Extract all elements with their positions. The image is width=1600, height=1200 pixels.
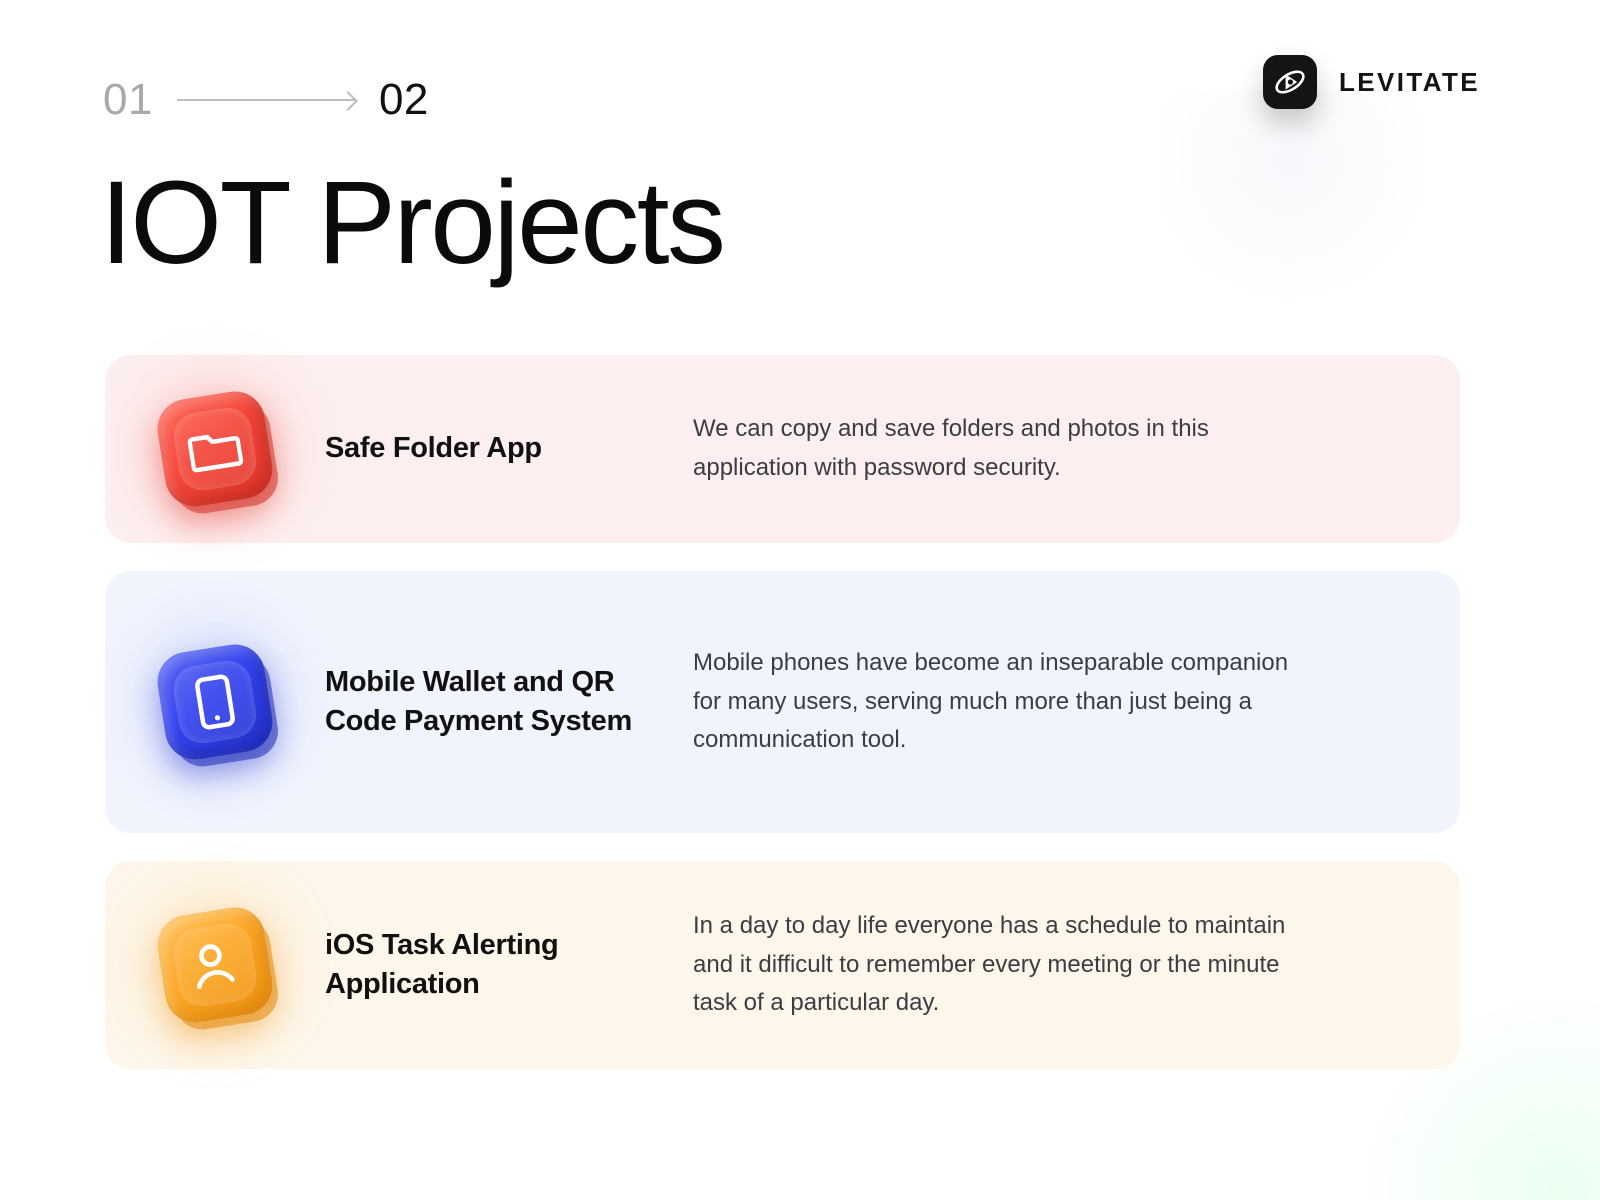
project-card-list: Safe Folder App We can copy and save fol… <box>105 355 1460 1097</box>
card-icon-container <box>105 395 325 503</box>
pagination-current-number[interactable]: 02 <box>379 78 429 122</box>
pagination-previous-number[interactable]: 01 <box>103 78 153 122</box>
brand-logo: LEVITATE <box>1263 55 1480 109</box>
page-title: IOT Projects <box>100 160 724 287</box>
card-title: Safe Folder App <box>325 429 693 468</box>
arrow-right-icon <box>177 99 355 101</box>
card-icon-container <box>105 911 325 1019</box>
card-description: In a day to day life everyone has a sche… <box>693 907 1373 1024</box>
slide-pagination: 01 02 <box>103 72 429 128</box>
card-title: Mobile Wallet and QR Code Payment System <box>325 663 693 741</box>
corner-glow-top-right <box>1160 90 1420 330</box>
brand-name-label: LEVITATE <box>1339 67 1480 98</box>
card-description: Mobile phones have become an inseparable… <box>693 644 1373 761</box>
orbit-logo-icon <box>1263 55 1317 109</box>
project-card-ios-task-alerting[interactable]: iOS Task Alerting Application In a day t… <box>105 861 1460 1069</box>
project-card-mobile-wallet[interactable]: Mobile Wallet and QR Code Payment System… <box>105 571 1460 833</box>
user-person-icon <box>153 903 277 1027</box>
slide-root: 01 02 LEVITATE IOT Projects <box>0 0 1600 1200</box>
folder-icon <box>153 387 277 511</box>
mobile-phone-icon <box>153 640 277 764</box>
card-title: iOS Task Alerting Application <box>325 926 693 1004</box>
project-card-safe-folder-app[interactable]: Safe Folder App We can copy and save fol… <box>105 355 1460 543</box>
card-description: We can copy and save folders and photos … <box>693 410 1373 488</box>
card-icon-container <box>105 648 325 756</box>
